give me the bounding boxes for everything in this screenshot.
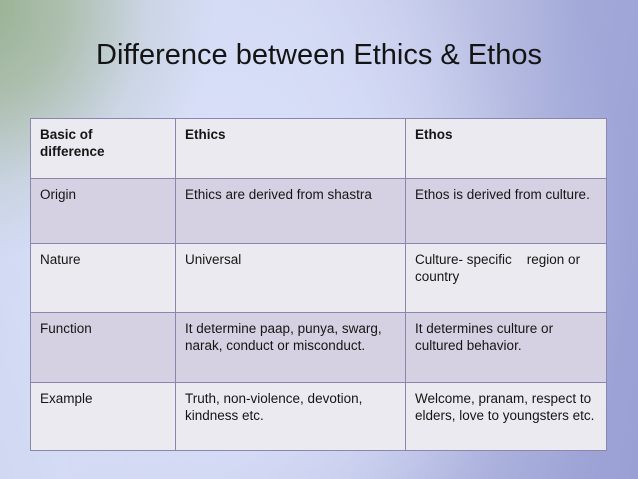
row-label-origin: Origin — [31, 179, 176, 244]
cell-origin-ethos: Ethos is derived from culture. — [406, 179, 607, 244]
column-header-ethos: Ethos — [406, 119, 607, 179]
comparison-table: Basic ofdifference Ethics Ethos Origin E… — [30, 118, 607, 451]
row-label-nature: Nature — [31, 244, 176, 313]
cell-example-ethos: Welcome, pranam, respect to elders, love… — [406, 383, 607, 451]
page-title: Difference between Ethics & Ethos — [0, 38, 638, 72]
slide-background: Difference between Ethics & Ethos Basic … — [0, 0, 638, 479]
cell-nature-ethos: Culture- specific region or country — [406, 244, 607, 313]
column-header-basis-line1: Basic of — [40, 127, 93, 142]
cell-nature-ethics: Universal — [176, 244, 406, 313]
cell-function-ethics: It determine paap, punya, swarg, narak, … — [176, 313, 406, 383]
table-row: Origin Ethics are derived from shastra E… — [31, 179, 607, 244]
cell-origin-ethics: Ethics are derived from shastra — [176, 179, 406, 244]
column-header-ethics: Ethics — [176, 119, 406, 179]
comparison-table-container: Basic ofdifference Ethics Ethos Origin E… — [30, 118, 606, 451]
cell-example-ethics: Truth, non-violence, devotion, kindness … — [176, 383, 406, 451]
table-row: Function It determine paap, punya, swarg… — [31, 313, 607, 383]
table-header-row: Basic ofdifference Ethics Ethos — [31, 119, 607, 179]
table-row: Nature Universal Culture- specific regio… — [31, 244, 607, 313]
row-label-example: Example — [31, 383, 176, 451]
row-label-function: Function — [31, 313, 176, 383]
cell-function-ethos: It determines culture or cultured behavi… — [406, 313, 607, 383]
column-header-basis: Basic ofdifference — [31, 119, 176, 179]
column-header-basis-line2: difference — [40, 144, 105, 159]
table-row: Example Truth, non-violence, devotion, k… — [31, 383, 607, 451]
